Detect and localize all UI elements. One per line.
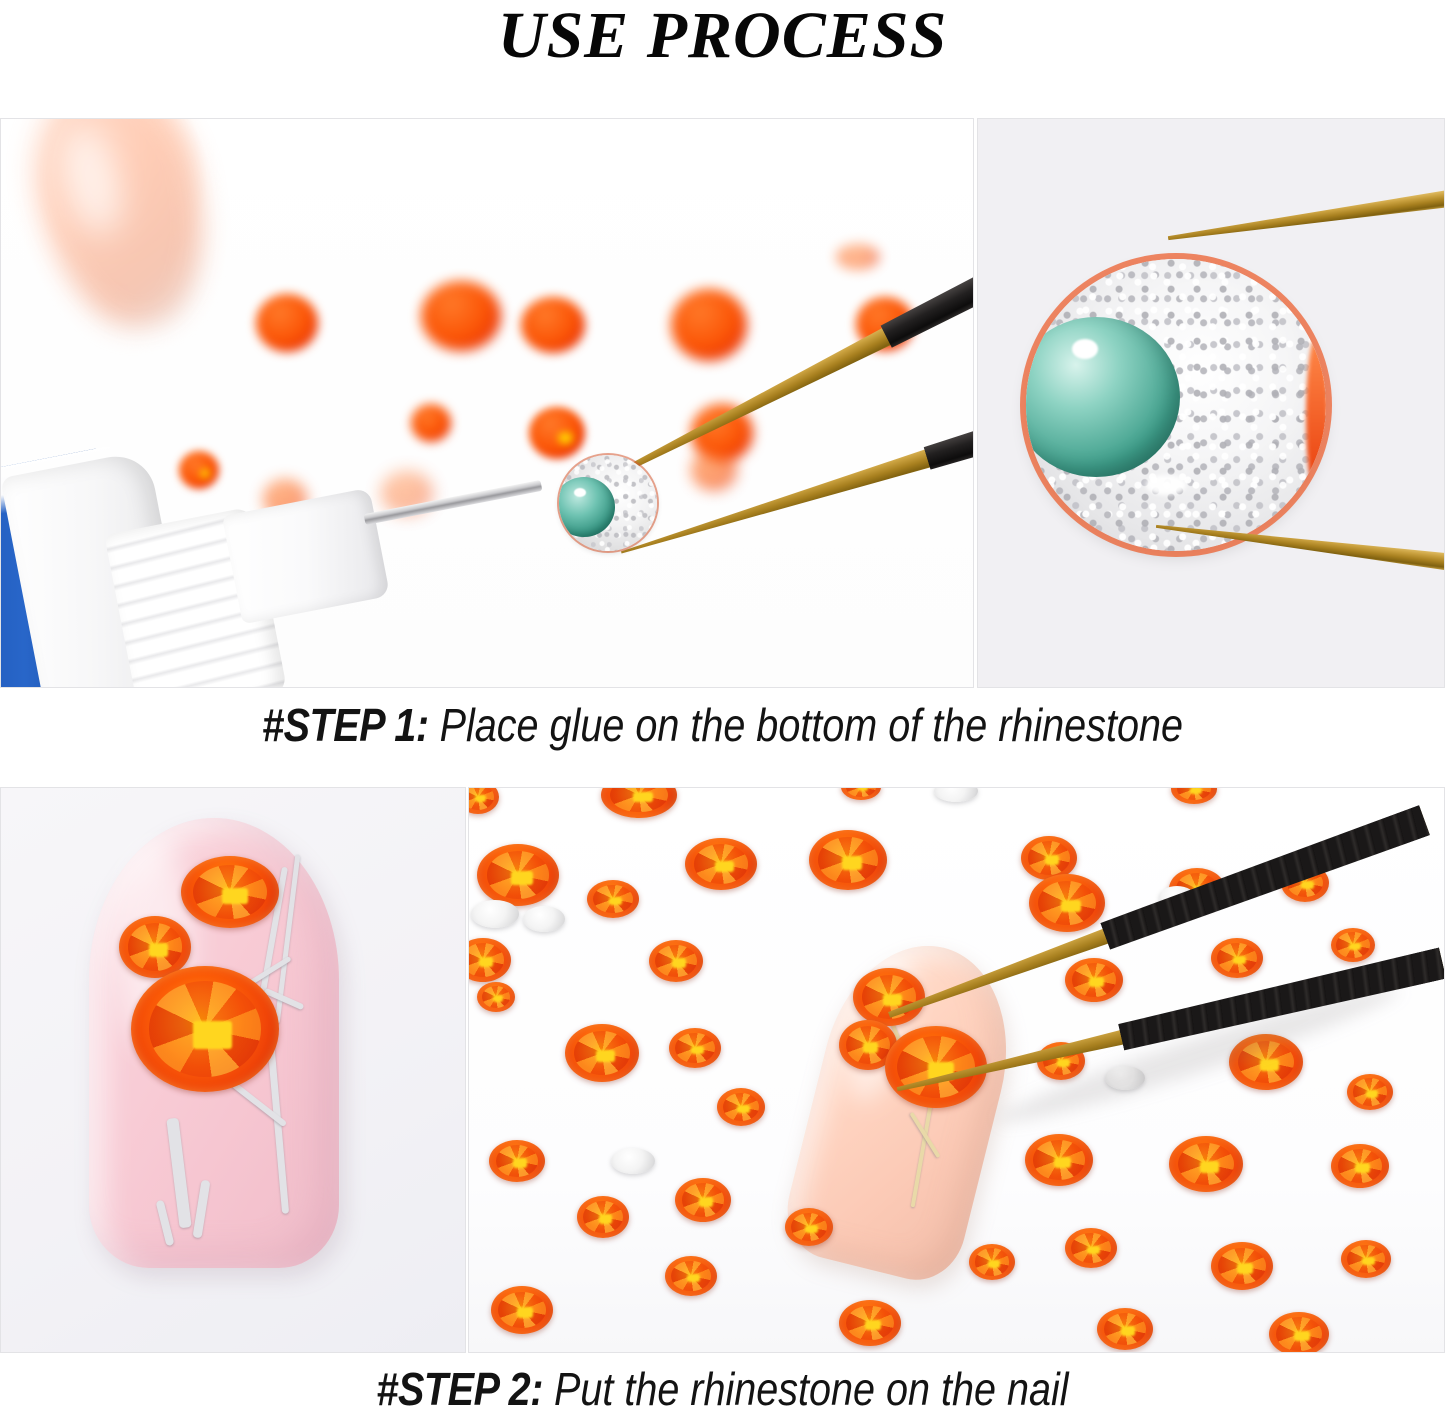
bokeh-stone [671, 289, 747, 361]
rhinestone-scattered [969, 1244, 1015, 1280]
rhinestone-macro-flatback [1026, 259, 1326, 551]
rhinestone-macro-photo [977, 118, 1445, 688]
step-2-caption: #STEP 2: Put the rhinestone on the nail [101, 1362, 1344, 1412]
rhinestone-scattered [675, 1178, 731, 1222]
rhinestone-scattered [477, 982, 515, 1012]
bokeh-stone [411, 404, 451, 442]
step-2-panel-row [0, 787, 1445, 1353]
rhinestone-scattered [717, 1088, 765, 1126]
rhinestone-scattered [1269, 1312, 1329, 1353]
rhinestone-scattered [1331, 928, 1375, 962]
rhinestone-flat-back-up [471, 900, 519, 928]
rhinestone-scattered [1065, 1228, 1117, 1268]
bokeh-stone [836, 244, 880, 270]
rhinestone-scattered [1211, 938, 1263, 978]
step-2-label: #STEP 2: [376, 1363, 543, 1412]
glue-highlight [1146, 475, 1186, 495]
rhinestone-scattered [809, 830, 887, 890]
infographic-page: USE PROCESS [0, 0, 1445, 1412]
glue-bottle-tip-cap [222, 488, 390, 625]
rhinestone-scattered [649, 940, 703, 982]
rhinestone-scattered [685, 838, 757, 890]
step-1-label: #STEP 1: [262, 699, 429, 751]
bokeh-stone [521, 297, 585, 353]
rhinestone-scattered [785, 1208, 833, 1246]
rhinestone-scattered [565, 1024, 639, 1082]
rhinestone-scattered [1211, 1242, 1273, 1290]
rhinestone-scattered [1065, 958, 1123, 1002]
bokeh-stone [691, 449, 737, 491]
rhinestone-scattered [1331, 1144, 1389, 1188]
glue-bottle [0, 449, 581, 688]
step-2-text: Put the rhinestone on the nail [554, 1363, 1069, 1412]
rhinestone-red-edge [1306, 335, 1326, 499]
rhinestone-scatter-photo [468, 787, 1445, 1353]
rhinestone-scattered [669, 1028, 721, 1068]
glue-applicator-needle [364, 480, 543, 525]
rhinestone-on-nail [131, 966, 279, 1092]
rhinestone-scattered [491, 1286, 553, 1334]
bokeh-stone [421, 281, 501, 351]
rhinestone-scattered [839, 1300, 901, 1346]
rhinestone-flat-back-up [611, 1148, 655, 1174]
rhinestone-on-nail [181, 856, 279, 928]
rhinestone-scattered [1341, 1240, 1391, 1278]
rhinestone-scattered [1347, 1074, 1393, 1110]
finished-nail-photo [0, 787, 466, 1353]
rhinestone-scattered [1097, 1308, 1153, 1350]
rhinestone-scattered [577, 1196, 629, 1238]
rhinestone-flat-back-up [523, 906, 565, 932]
glue-application-photo [0, 118, 974, 688]
step-1-panel-row [0, 118, 1445, 688]
page-title: USE PROCESS [0, 0, 1445, 82]
rhinestone-scattered [489, 1140, 545, 1182]
rhinestone-scattered [1025, 1134, 1093, 1186]
step-1-caption: #STEP 1: Place glue on the bottom of the… [101, 698, 1344, 752]
step-1-text: Place glue on the bottom of the rhinesto… [440, 699, 1183, 751]
rhinestone-scattered [587, 880, 639, 918]
rhinestone-scattered [1169, 1136, 1243, 1192]
rhinestone-scattered [477, 844, 559, 906]
rhinestone-scattered [665, 1256, 717, 1296]
bokeh-stone [256, 294, 318, 352]
